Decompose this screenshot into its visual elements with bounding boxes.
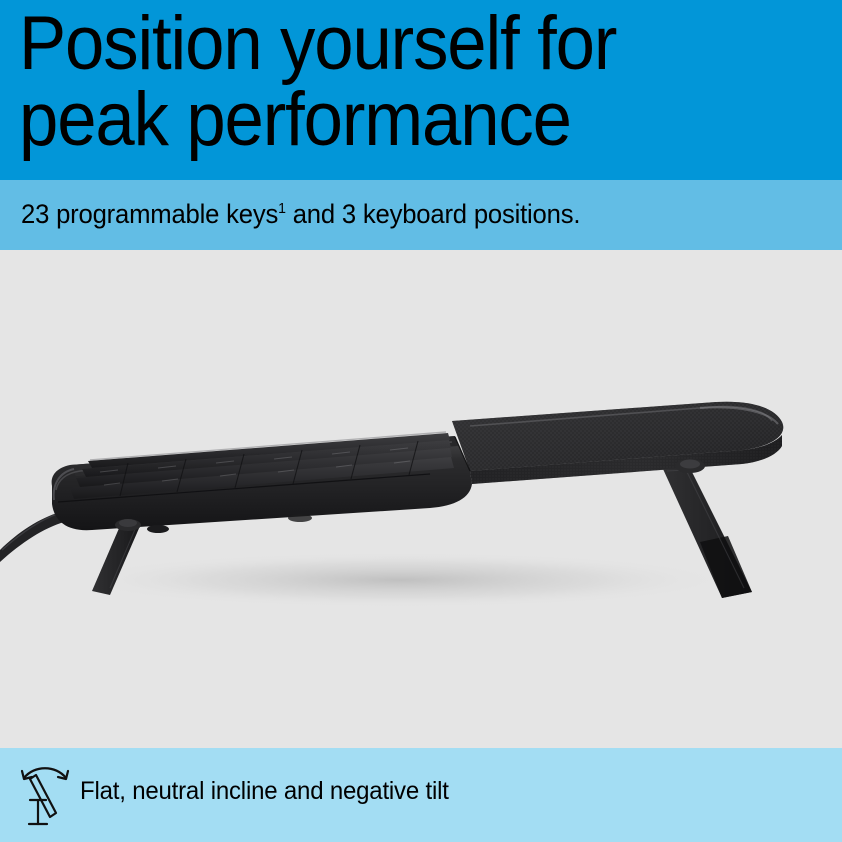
rubber-foot-mid: [288, 514, 312, 522]
subtitle-text-before: 23 programmable keys: [21, 199, 278, 229]
keyboard-illustration: [0, 250, 842, 748]
tilt-adjust-icon: [16, 760, 74, 830]
keyboard-shadow: [70, 552, 730, 608]
feature-label: Flat, neutral incline and negative tilt: [80, 775, 449, 807]
page-title: Position yourself for peak performance: [19, 6, 774, 158]
keyboard-cable: [0, 512, 64, 562]
subtitle-band: 23 programmable keys1 and 3 keyboard pos…: [0, 180, 842, 250]
headline-band: Position yourself for peak performance: [0, 0, 842, 180]
rubber-foot: [147, 525, 169, 533]
subtitle: 23 programmable keys1 and 3 keyboard pos…: [21, 197, 580, 231]
marketing-feature-card: Position yourself for peak performance 2…: [0, 0, 842, 842]
subtitle-text-after: and 3 keyboard positions.: [286, 199, 581, 229]
feature-band: Flat, neutral incline and negative tilt: [0, 748, 842, 842]
subtitle-footnote-marker: 1: [278, 201, 286, 217]
product-photo: Adjustable keyboard feet: [0, 250, 842, 748]
